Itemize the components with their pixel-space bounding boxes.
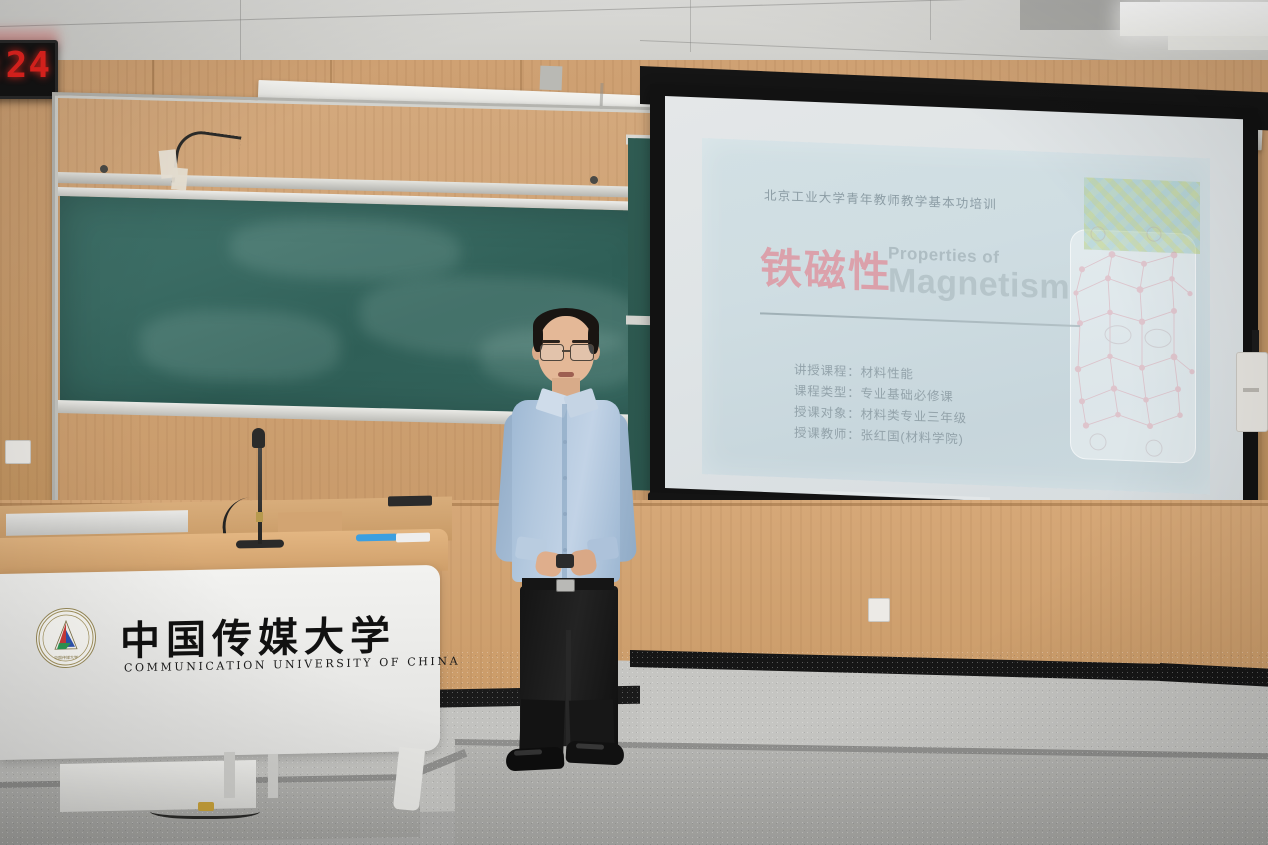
projected-slide: 北京工业大学青年教师教学基本功培训 铁磁性 Properties of Magn… [702,138,1210,494]
slide-info-list: 讲授课程：材料性能 课程类型：专业基础必修课 授课对象：材料类专业三年级 授课教… [794,360,967,451]
slide-divider-rule [760,312,1080,327]
lecture-hall-photo: :24 [0,0,1268,845]
presenter-eyebrow [572,340,590,343]
chalkboard-slide-knob[interactable] [100,165,108,173]
microphone-head[interactable] [252,428,265,448]
slide-header-text: 北京工业大学青年教师教学基本功培训 [764,184,997,212]
podium-leg [268,754,278,798]
wall-light-switch[interactable] [5,440,31,464]
ceiling-tile-seam [930,0,931,40]
ceiling-light-fixture [1168,36,1268,50]
seal-svg: 中国传媒大学 [37,608,95,667]
blue-marker-pen[interactable] [356,534,398,542]
microphone-stem [258,436,262,544]
shirt-button [563,440,567,444]
chalkboard-slide-knob[interactable] [590,176,598,184]
slide-title-english-large: Magnetism [888,261,1070,307]
presenter-mouth [558,372,574,377]
desk-device[interactable] [388,496,432,507]
presentation-clicker[interactable] [556,554,574,568]
cable-connector [198,802,214,811]
shirt-button [563,476,567,480]
microphone-ring [256,512,263,522]
shirt-button [563,512,567,516]
desk-papers-stack[interactable] [6,510,188,536]
ceiling-light-fixture [1120,2,1268,36]
clock-time-display: :24 [0,45,51,86]
presenter [470,300,660,770]
belt-buckle [556,579,575,592]
presenter-eyebrow [542,340,560,343]
whiteboard-eraser[interactable] [396,533,430,543]
wall-tape-patch [171,167,188,190]
lattice-svg [1062,172,1202,468]
shirt-button [563,548,567,552]
glasses-bridge [562,350,570,352]
slide-title-chinese: 铁磁性 [760,234,892,300]
wall-panel-slot [1243,388,1259,392]
podium-leg [224,752,235,798]
svg-text:中国传媒大学: 中国传媒大学 [54,654,78,661]
glasses-lens [540,344,564,361]
glasses-lens [570,344,594,361]
led-clock: :24 [0,40,58,99]
slide-decorative-lattice-art [1062,172,1202,468]
wall-light-switch[interactable] [868,598,890,622]
ceiling-tile-seam [690,0,691,52]
wall-control-panel[interactable] [1236,352,1268,432]
light-rail-mount [540,66,563,91]
